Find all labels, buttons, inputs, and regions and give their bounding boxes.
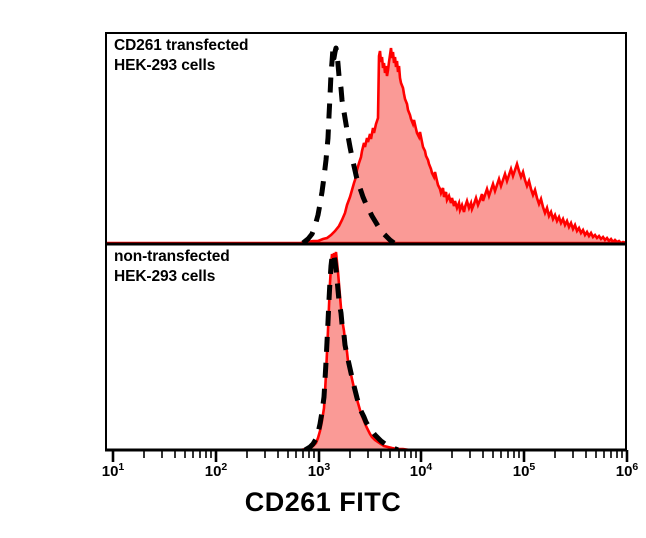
panel-top-label-line1: CD261 transfected [114,37,248,54]
x-tick-exponent: 3 [324,461,330,473]
panel-bottom-label-line2: HEK-293 cells [114,268,215,285]
x-axis-title: CD261 FITC [0,487,646,518]
x-tick-label-10e2: 102 [205,463,228,480]
x-axis-ticks [113,450,627,462]
panel-bottom-label-line1: non-transfected [114,248,230,265]
x-tick-label-10e1: 101 [102,463,125,480]
x-tick-exponent: 4 [426,461,432,473]
panel-top-label-line2: HEK-293 cells [114,57,215,74]
histogram-plot [0,0,646,538]
x-tick-label-10e4: 104 [410,463,433,480]
x-tick-base: 10 [205,463,222,480]
x-tick-exponent: 1 [118,461,124,473]
x-tick-label-10e3: 103 [308,463,331,480]
x-tick-label-10e6: 106 [616,463,639,480]
x-tick-base: 10 [513,463,530,480]
x-tick-base: 10 [308,463,325,480]
x-tick-exponent: 5 [529,461,535,473]
x-tick-base: 10 [410,463,427,480]
x-tick-label-10e5: 105 [513,463,536,480]
panel-top-annotation: CD261 transfectedHEK-293 cells [114,36,248,77]
x-tick-base: 10 [102,463,119,480]
panel-bottom-annotation: non-transfectedHEK-293 cells [114,247,230,288]
flow-cytometry-figure: CD261 transfectedHEK-293 cells non-trans… [0,0,646,538]
x-tick-base: 10 [616,463,633,480]
x-tick-exponent: 2 [221,461,227,473]
x-tick-exponent: 6 [632,461,638,473]
